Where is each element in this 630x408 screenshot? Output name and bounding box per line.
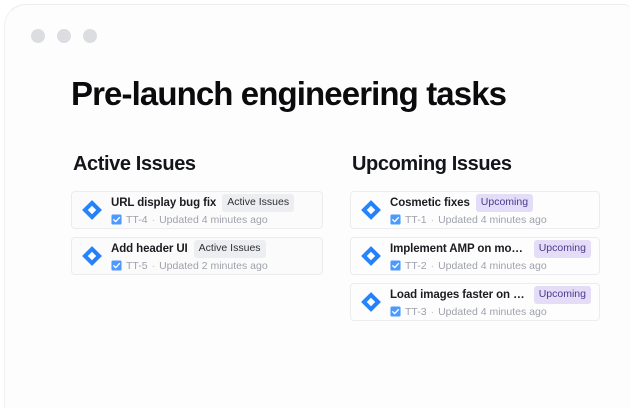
issue-topline: Implement AMP on mobile…Upcoming bbox=[390, 240, 591, 258]
checked-checkbox-icon[interactable] bbox=[390, 214, 401, 225]
jira-task-diamond-icon bbox=[360, 245, 382, 267]
issue-meta: TT-2·Updated 4 minutes ago bbox=[390, 260, 591, 272]
jira-task-diamond-icon bbox=[360, 291, 382, 313]
issue-summary[interactable]: Add header UI bbox=[111, 243, 188, 255]
meta-separator: · bbox=[152, 214, 156, 226]
checked-checkbox-icon[interactable] bbox=[390, 260, 401, 271]
issue-key[interactable]: TT-1 bbox=[405, 214, 427, 226]
column-active-issues: Active Issues URL display bug fixActive … bbox=[71, 153, 323, 275]
issue-body: Add header UIActive IssuesTT-5·Updated 2… bbox=[111, 240, 314, 272]
issue-topline: Add header UIActive Issues bbox=[111, 240, 314, 258]
issue-topline: Cosmetic fixesUpcoming bbox=[390, 194, 591, 212]
checked-checkbox-icon[interactable] bbox=[390, 306, 401, 317]
jira-task-diamond-icon bbox=[81, 245, 103, 267]
window-titlebar bbox=[31, 29, 97, 43]
issue-summary[interactable]: Load images faster on de… bbox=[390, 289, 528, 301]
issue-card[interactable]: Load images faster on de…UpcomingTT-3·Up… bbox=[350, 283, 600, 321]
issue-meta: TT-4·Updated 4 minutes ago bbox=[111, 214, 314, 226]
issue-summary[interactable]: URL display bug fix bbox=[111, 197, 216, 209]
issue-status-badge: Active Issues bbox=[194, 240, 266, 258]
minimize-dot[interactable] bbox=[57, 29, 71, 43]
issue-updated-timestamp: Updated 2 minutes ago bbox=[159, 260, 268, 272]
issue-summary[interactable]: Cosmetic fixes bbox=[390, 197, 470, 209]
issue-topline: Load images faster on de…Upcoming bbox=[390, 286, 591, 304]
issue-updated-timestamp: Updated 4 minutes ago bbox=[159, 214, 268, 226]
issue-key[interactable]: TT-4 bbox=[126, 214, 148, 226]
meta-separator: · bbox=[431, 306, 435, 318]
issue-key[interactable]: TT-2 bbox=[405, 260, 427, 272]
column-title-active: Active Issues bbox=[73, 153, 323, 176]
issue-status-badge: Active Issues bbox=[222, 194, 294, 212]
issue-summary[interactable]: Implement AMP on mobile… bbox=[390, 243, 528, 255]
issue-body: URL display bug fixActive IssuesTT-4·Upd… bbox=[111, 194, 314, 226]
app-window: Pre-launch engineering tasks Active Issu… bbox=[4, 4, 630, 408]
jira-task-diamond-icon bbox=[360, 199, 382, 221]
issue-body: Implement AMP on mobile…UpcomingTT-2·Upd… bbox=[390, 240, 591, 272]
close-dot[interactable] bbox=[31, 29, 45, 43]
issue-meta: TT-3·Updated 4 minutes ago bbox=[390, 306, 591, 318]
meta-separator: · bbox=[152, 260, 156, 272]
issue-card[interactable]: URL display bug fixActive IssuesTT-4·Upd… bbox=[71, 191, 323, 229]
meta-separator: · bbox=[431, 214, 435, 226]
issue-card[interactable]: Cosmetic fixesUpcomingTT-1·Updated 4 min… bbox=[350, 191, 600, 229]
issue-key[interactable]: TT-3 bbox=[405, 306, 427, 318]
issue-meta: TT-1·Updated 4 minutes ago bbox=[390, 214, 591, 226]
checked-checkbox-icon[interactable] bbox=[111, 214, 122, 225]
column-upcoming-issues: Upcoming Issues Cosmetic fixesUpcomingTT… bbox=[350, 153, 600, 321]
issue-list-active: URL display bug fixActive IssuesTT-4·Upd… bbox=[71, 191, 323, 275]
issue-updated-timestamp: Updated 4 minutes ago bbox=[438, 306, 547, 318]
column-title-upcoming: Upcoming Issues bbox=[352, 153, 600, 176]
checked-checkbox-icon[interactable] bbox=[111, 260, 122, 271]
issue-status-badge: Upcoming bbox=[534, 240, 591, 258]
jira-task-diamond-icon bbox=[81, 199, 103, 221]
issue-card[interactable]: Implement AMP on mobile…UpcomingTT-2·Upd… bbox=[350, 237, 600, 275]
issue-list-upcoming: Cosmetic fixesUpcomingTT-1·Updated 4 min… bbox=[350, 191, 600, 321]
issue-updated-timestamp: Updated 4 minutes ago bbox=[438, 260, 547, 272]
issue-body: Load images faster on de…UpcomingTT-3·Up… bbox=[390, 286, 591, 318]
issue-updated-timestamp: Updated 4 minutes ago bbox=[438, 214, 547, 226]
issue-key[interactable]: TT-5 bbox=[126, 260, 148, 272]
page-title: Pre-launch engineering tasks bbox=[71, 75, 506, 113]
issue-card[interactable]: Add header UIActive IssuesTT-5·Updated 2… bbox=[71, 237, 323, 275]
issue-status-badge: Upcoming bbox=[534, 286, 591, 304]
issue-body: Cosmetic fixesUpcomingTT-1·Updated 4 min… bbox=[390, 194, 591, 226]
maximize-dot[interactable] bbox=[83, 29, 97, 43]
issue-status-badge: Upcoming bbox=[476, 194, 533, 212]
meta-separator: · bbox=[431, 260, 435, 272]
issue-topline: URL display bug fixActive Issues bbox=[111, 194, 314, 212]
issue-meta: TT-5·Updated 2 minutes ago bbox=[111, 260, 314, 272]
